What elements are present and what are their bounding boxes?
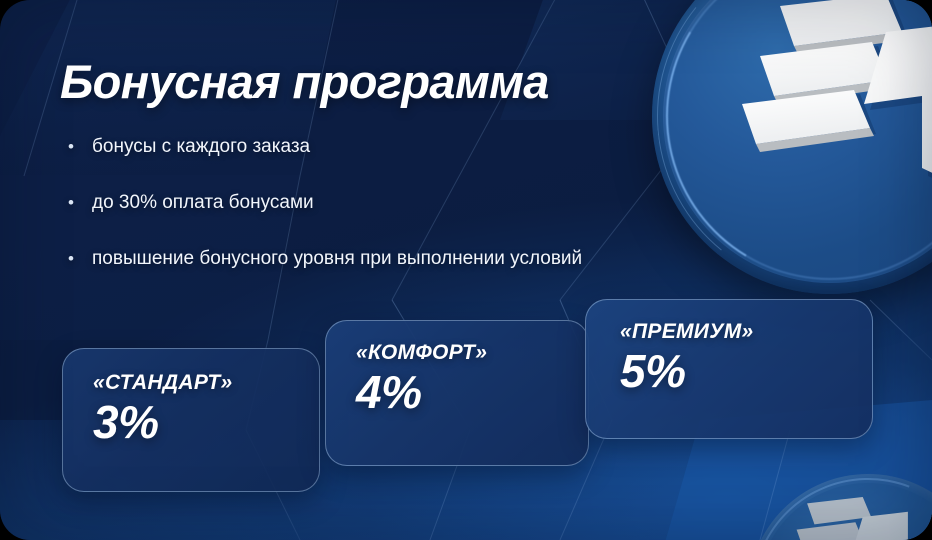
bullet-marker-icon: • [68, 248, 92, 270]
list-item-label: повышение бонусного уровня при выполнени… [92, 248, 582, 270]
tier-card-standard: «СТАНДАРТ» 3% [62, 348, 320, 492]
list-item: • до 30% оплата бонусами [68, 192, 768, 214]
benefits-list: • бонусы с каждого заказа • до 30% оплат… [68, 136, 768, 304]
list-item: • повышение бонусного уровня при выполне… [68, 248, 768, 270]
bonus-program-banner: Бонусная программа • бонусы с каждого за… [0, 0, 932, 540]
tier-card-comfort: «КОМФОРТ» 4% [325, 320, 589, 466]
list-item: • бонусы с каждого заказа [68, 136, 768, 158]
company-logo-icon-secondary [784, 496, 910, 540]
tier-percent-standard: 3% [93, 399, 293, 447]
logo-disc-secondary [748, 474, 932, 540]
tier-percent-premium: 5% [620, 348, 846, 396]
bullet-marker-icon: • [68, 136, 92, 158]
page-title: Бонусная программа [60, 54, 549, 109]
tier-name-standard: «СТАНДАРТ» [93, 371, 293, 395]
tier-name-comfort: «КОМФОРТ» [356, 341, 562, 365]
bullet-marker-icon: • [68, 192, 92, 214]
list-item-label: до 30% оплата бонусами [92, 192, 314, 214]
tier-card-premium: «ПРЕМИУМ» 5% [585, 299, 873, 439]
tier-percent-comfort: 4% [356, 369, 562, 417]
list-item-label: бонусы с каждого заказа [92, 136, 310, 158]
tier-name-premium: «ПРЕМИУМ» [620, 320, 846, 344]
